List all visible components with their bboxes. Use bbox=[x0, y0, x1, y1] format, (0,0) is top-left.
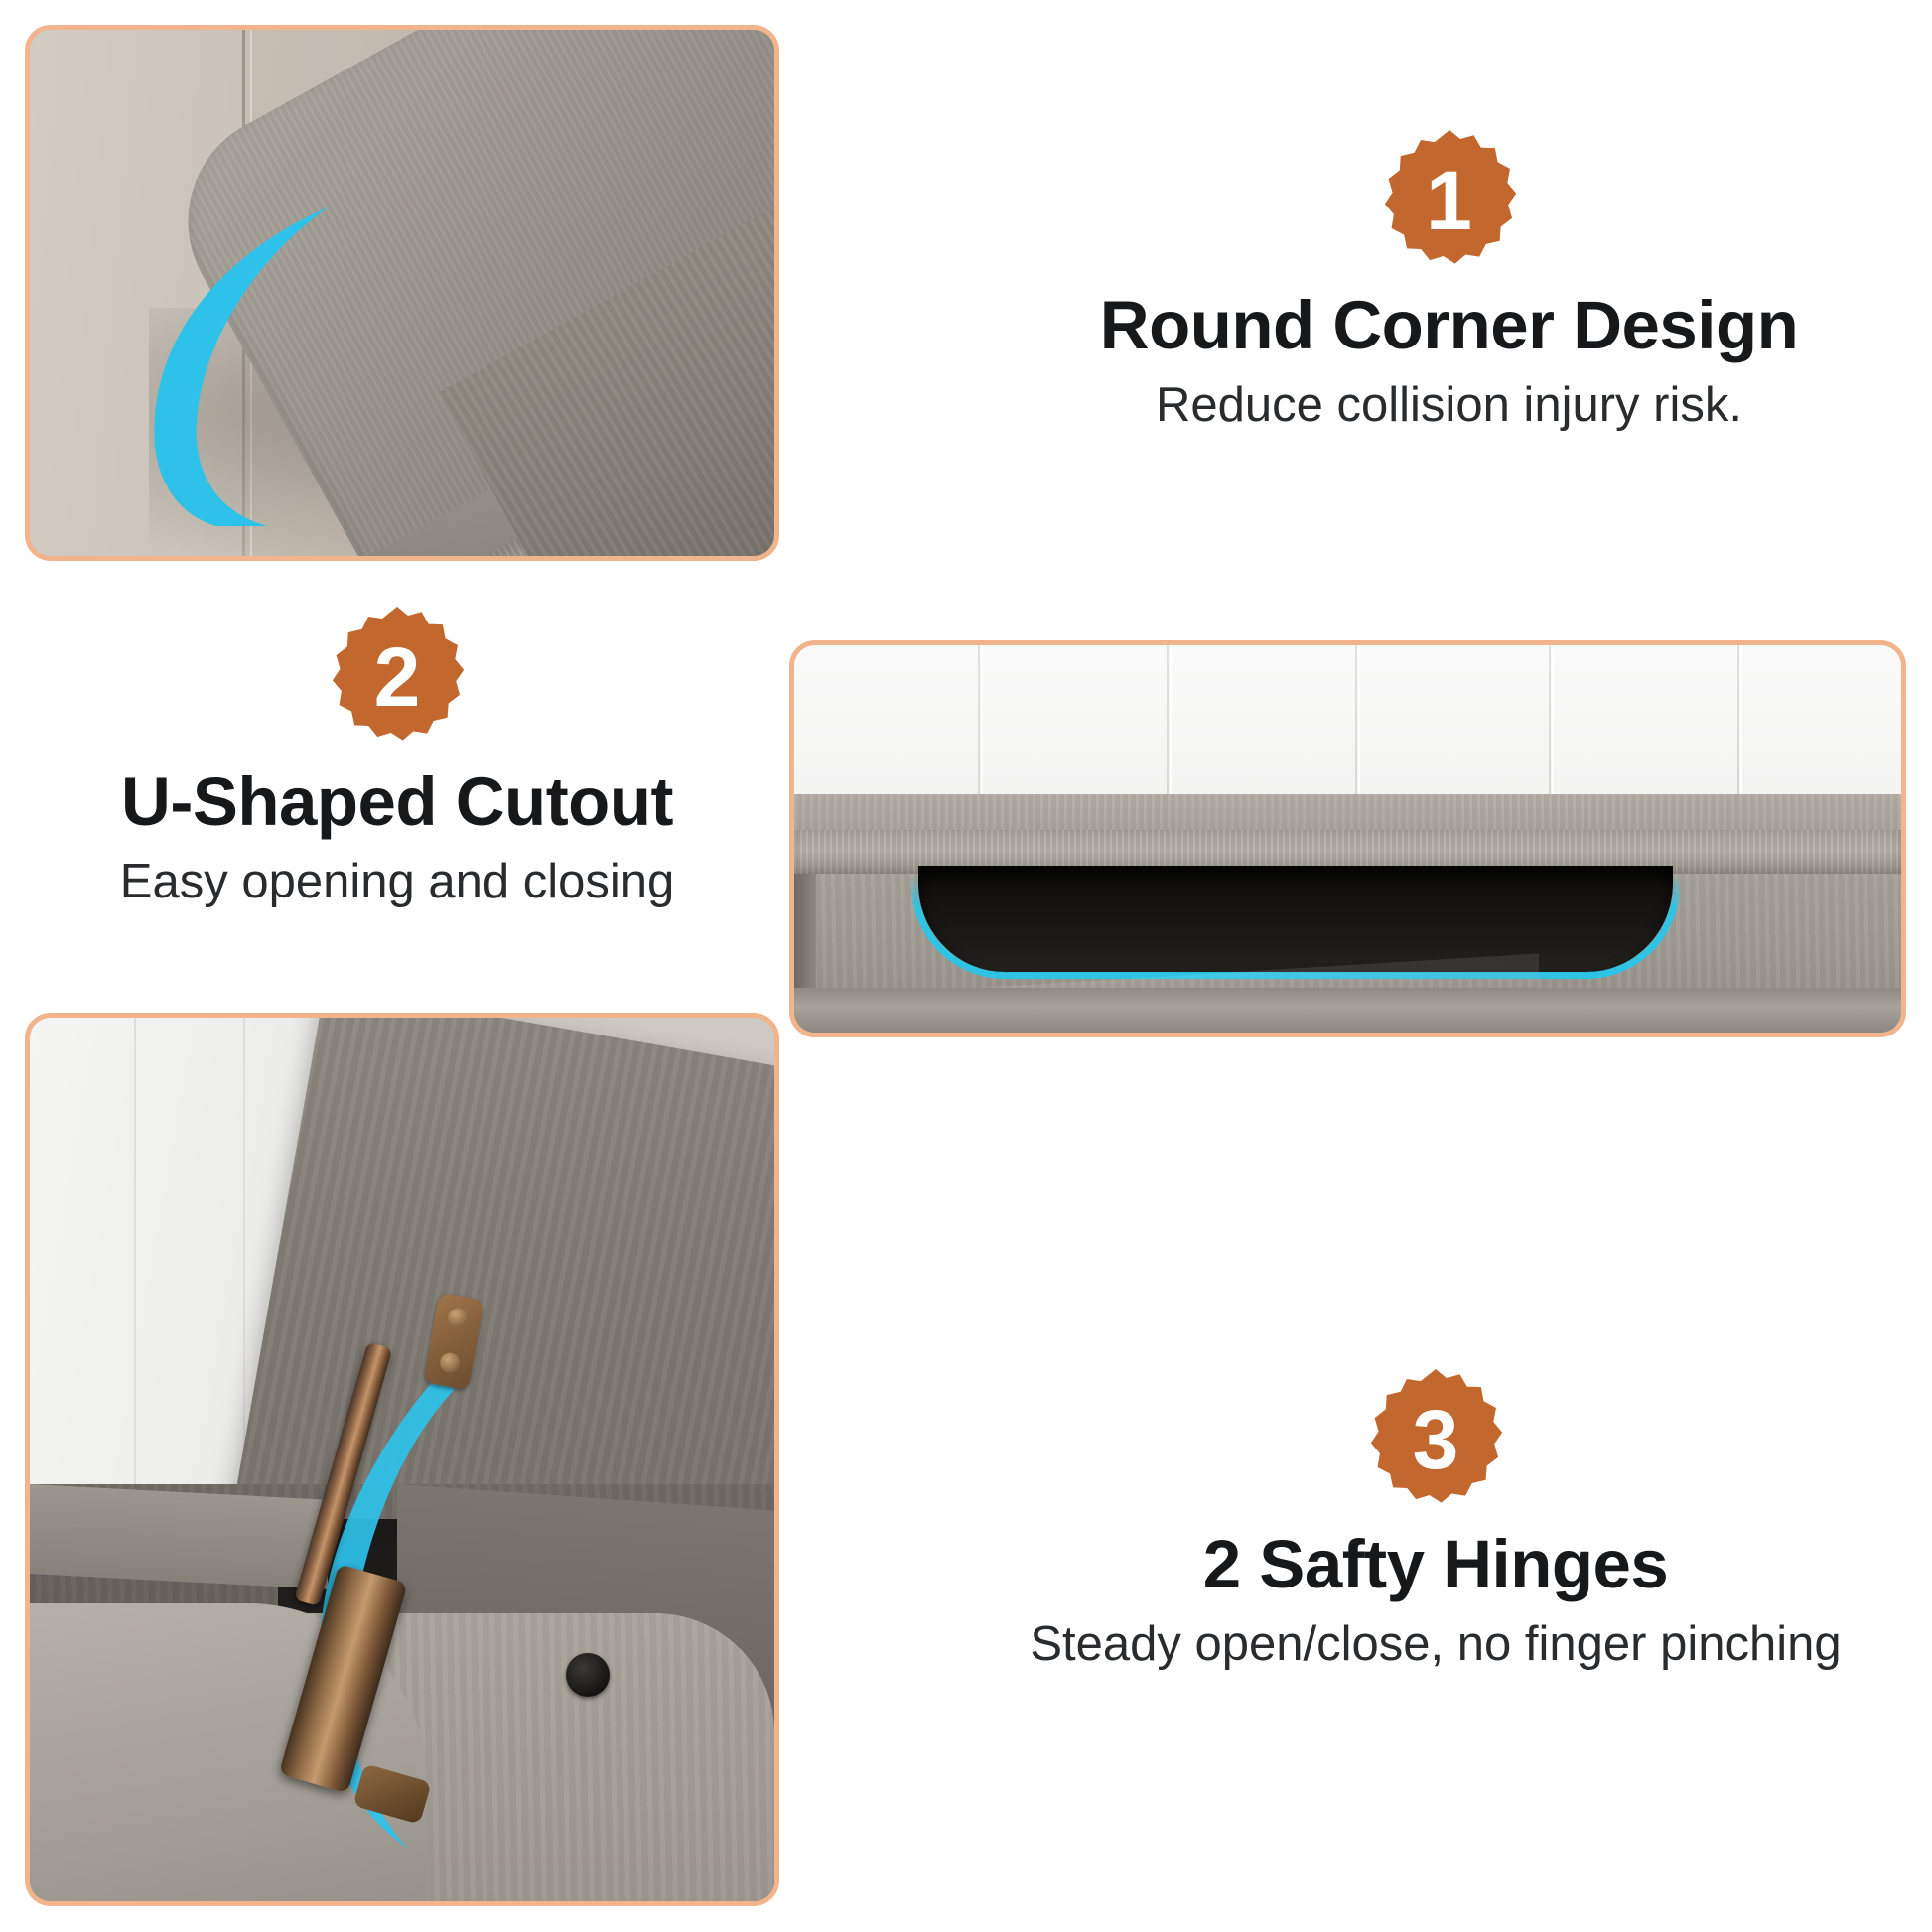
feature-subtitle-3: Steady open/close, no finger pinching bbox=[939, 1616, 1932, 1672]
photo-panel-round-corner bbox=[25, 25, 779, 561]
infographic-canvas: 1 Round Corner Design Reduce collision i… bbox=[0, 0, 1932, 1932]
feature-title-1: Round Corner Design bbox=[966, 288, 1932, 363]
tabletop-surface bbox=[794, 794, 1901, 832]
feature-subtitle-1: Reduce collision injury risk. bbox=[966, 377, 1932, 433]
u-cutout-glow-icon bbox=[911, 858, 1680, 979]
feature-title-2: U-Shaped Cutout bbox=[0, 764, 794, 840]
feature-title-3: 2 Safty Hinges bbox=[939, 1527, 1932, 1602]
photo-panel-safety-hinges bbox=[25, 1013, 779, 1906]
feature-block-3: 3 2 Safty Hinges Steady open/close, no f… bbox=[939, 1366, 1932, 1672]
lower-board bbox=[794, 988, 1901, 1037]
feature-block-2: 2 U-Shaped Cutout Easy opening and closi… bbox=[0, 604, 794, 909]
white-panel-wall bbox=[794, 645, 1901, 809]
crescent-arc-icon bbox=[119, 199, 387, 526]
step-badge-1: 1 bbox=[1376, 127, 1523, 274]
step-badge-3: 3 bbox=[1362, 1366, 1509, 1513]
feature-subtitle-2: Easy opening and closing bbox=[0, 854, 794, 909]
step-badge-number-1: 1 bbox=[1376, 127, 1523, 274]
photo-panel-u-cutout bbox=[789, 640, 1906, 1037]
feature-block-1: 1 Round Corner Design Reduce collision i… bbox=[966, 127, 1932, 433]
step-badge-number-2: 2 bbox=[324, 604, 471, 751]
cam-lock-knob bbox=[566, 1653, 610, 1697]
step-badge-number-3: 3 bbox=[1362, 1366, 1509, 1513]
step-badge-2: 2 bbox=[324, 604, 471, 751]
